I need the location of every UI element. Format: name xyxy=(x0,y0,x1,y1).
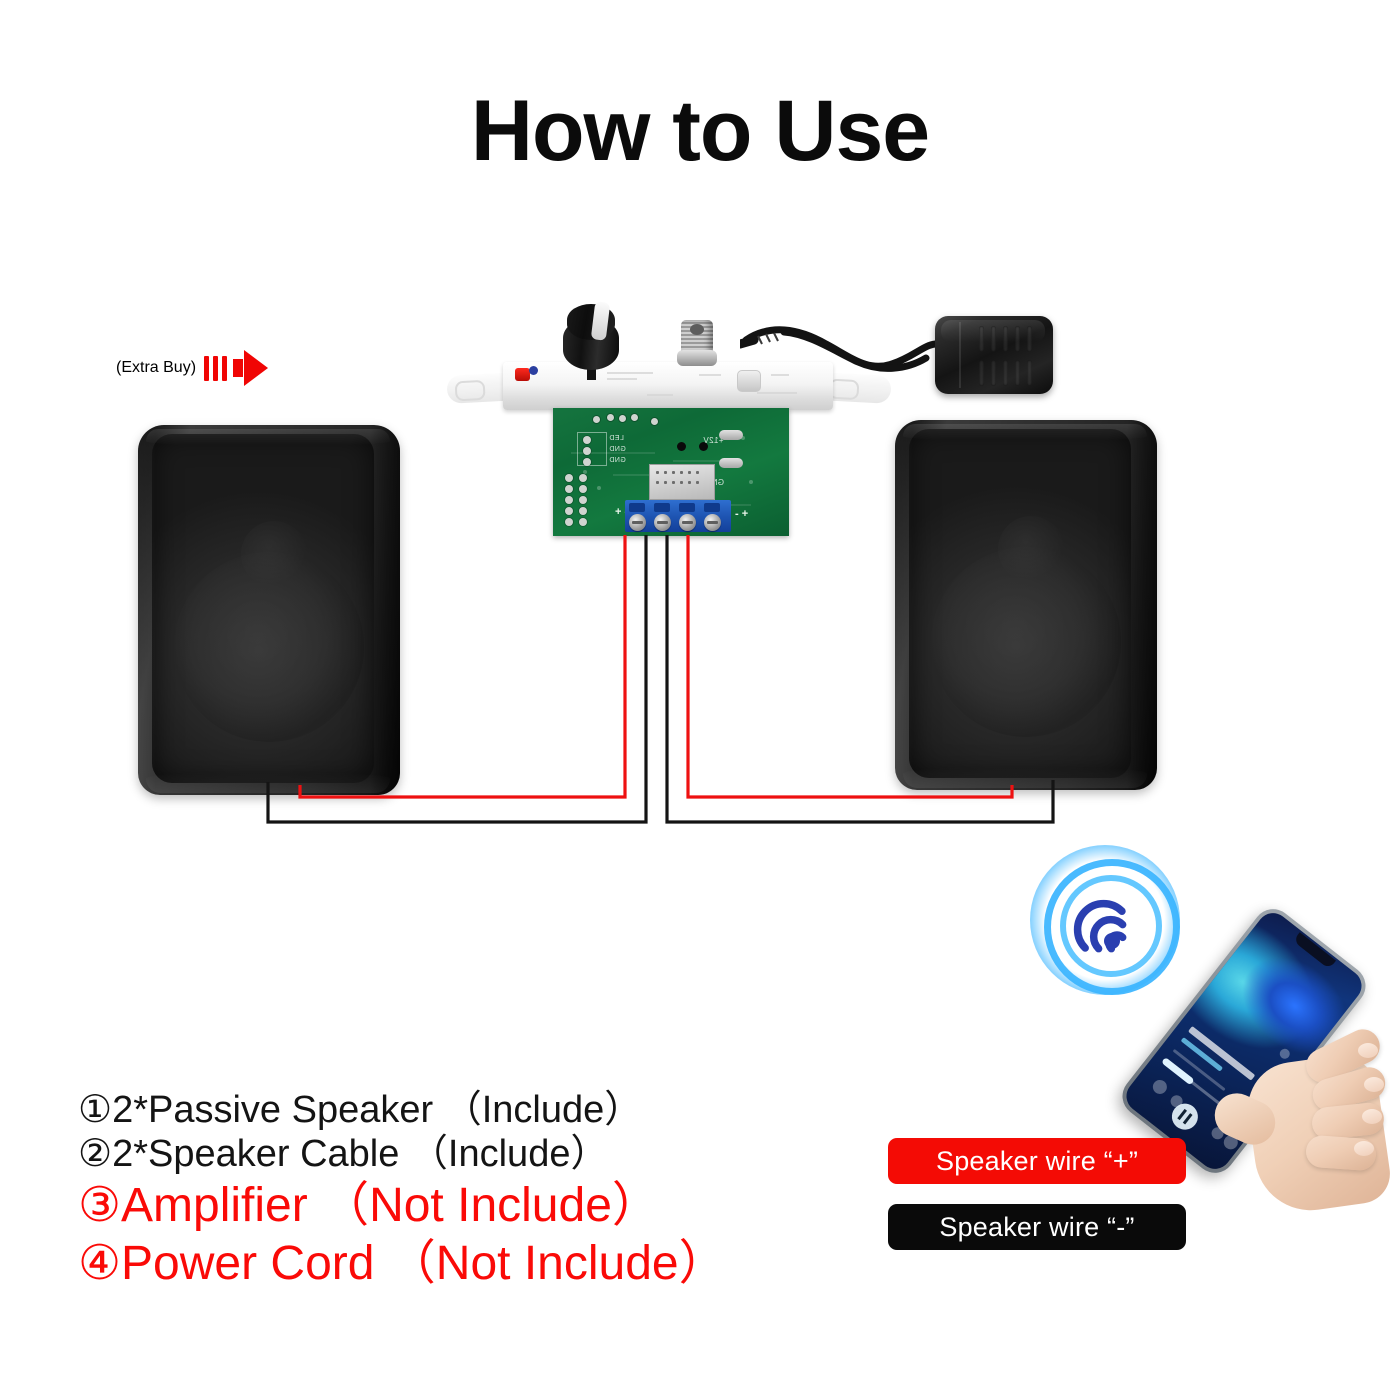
wire-right-minus xyxy=(667,535,1053,822)
wire-left-minus xyxy=(268,535,646,822)
list-item: ③Amplifier （Not Include） xyxy=(78,1177,838,1235)
diagram-canvas: How to Use (Extra Buy) xyxy=(0,0,1400,1400)
list-item: ④Power Cord （Not Include） xyxy=(78,1235,838,1293)
badge-speaker-wire-plus: Speaker wire “+” xyxy=(888,1138,1186,1184)
list-item: ①2*Passive Speaker （Include） xyxy=(78,1088,838,1132)
badge-speaker-wire-minus: Speaker wire “-” xyxy=(888,1204,1186,1250)
hand xyxy=(1208,1025,1388,1215)
wire-color-legend: Speaker wire “+” Speaker wire “-” xyxy=(888,1138,1188,1250)
wire-right-plus xyxy=(688,535,1012,797)
wire-left-plus xyxy=(300,535,625,797)
parts-legend-list: ①2*Passive Speaker （Include） ②2*Speaker … xyxy=(78,1088,838,1292)
list-item: ②2*Speaker Cable （Include） xyxy=(78,1132,838,1176)
